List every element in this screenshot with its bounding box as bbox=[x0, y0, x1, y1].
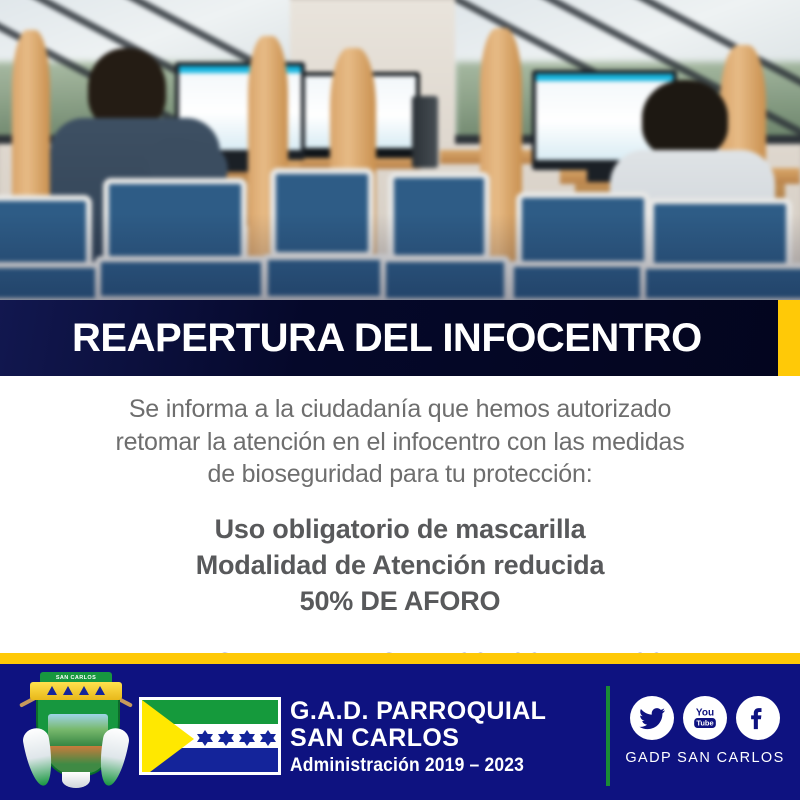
flag-star bbox=[218, 730, 234, 742]
social-handle: GADP SAN CARLOS bbox=[620, 750, 790, 766]
crest-star bbox=[47, 686, 57, 695]
org-line-2: SAN CARLOS bbox=[290, 725, 590, 752]
social-media-block: You Tube GADP SAN CARLOS bbox=[620, 696, 790, 766]
intro-line-1: Se informa a la ciudadanía que hemos aut… bbox=[129, 395, 671, 423]
flag-star bbox=[239, 730, 255, 742]
facebook-icon[interactable] bbox=[736, 696, 780, 740]
intro-line-2: retomar la atención en el infocentro con… bbox=[115, 428, 684, 456]
banner-title: REAPERTURA DEL INFOCENTRO bbox=[0, 316, 702, 361]
rules-paragraph: Uso obligatorio de mascarilla Modalidad … bbox=[0, 491, 800, 620]
title-banner: REAPERTURA DEL INFOCENTRO bbox=[0, 300, 800, 376]
crest-ribbon bbox=[30, 682, 122, 700]
crest-lower-scene bbox=[48, 746, 108, 772]
crest-star bbox=[63, 686, 73, 695]
poster: REAPERTURA DEL INFOCENTRO Se informa a l… bbox=[0, 0, 800, 800]
flag-star bbox=[260, 730, 276, 742]
rule-reduced-service: Modalidad de Atención reducida bbox=[196, 550, 605, 580]
crest-base bbox=[62, 772, 90, 788]
crest-star bbox=[95, 686, 105, 695]
intro-line-3: de bioseguridad para tu protección: bbox=[208, 460, 593, 488]
intro-paragraph: Se informa a la ciudadanía que hemos aut… bbox=[0, 376, 800, 491]
flag-yellow-triangle bbox=[142, 700, 194, 775]
svg-text:You: You bbox=[696, 708, 714, 719]
infocenter-photo bbox=[0, 0, 800, 305]
parish-flag-icon bbox=[139, 697, 281, 775]
coat-of-arms-icon: SAN CARLOS bbox=[28, 672, 124, 790]
social-icons: You Tube bbox=[620, 696, 790, 740]
svg-text:Tube: Tube bbox=[696, 719, 713, 728]
org-line-1: G.A.D. PARROQUIAL bbox=[290, 698, 590, 725]
twitter-icon[interactable] bbox=[630, 696, 674, 740]
flag-star bbox=[197, 730, 213, 742]
crest-landscape bbox=[48, 714, 108, 748]
rule-mask: Uso obligatorio de mascarilla bbox=[215, 514, 586, 544]
crest-star bbox=[79, 686, 89, 695]
banner-accent-bar bbox=[778, 300, 800, 376]
yellow-divider bbox=[0, 653, 800, 664]
flag-stars bbox=[190, 724, 281, 748]
org-administration-period: Administración 2019 – 2023 bbox=[290, 755, 566, 777]
organization-name: G.A.D. PARROQUIAL SAN CARLOS Administrac… bbox=[290, 698, 590, 777]
message-section: Se informa a la ciudadanía que hemos aut… bbox=[0, 376, 800, 653]
photo-vignette bbox=[0, 0, 800, 305]
rule-capacity: 50% DE AFORO bbox=[300, 586, 501, 616]
youtube-icon[interactable]: You Tube bbox=[683, 696, 727, 740]
footer-separator bbox=[606, 686, 610, 786]
